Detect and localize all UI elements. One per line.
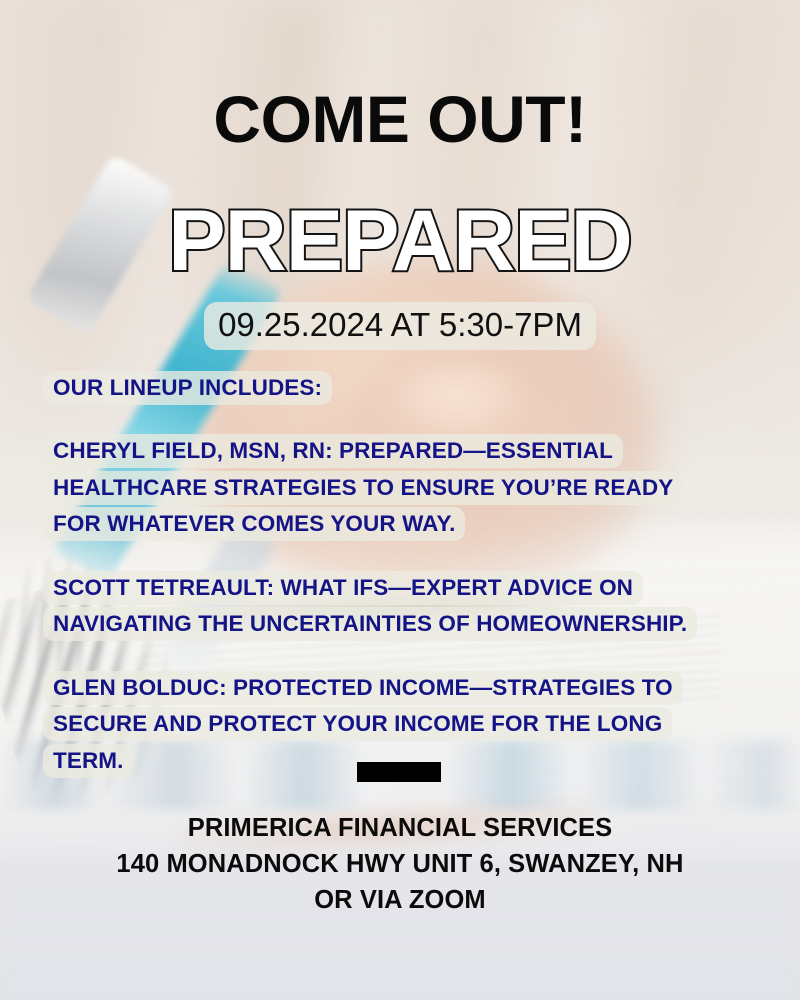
lineup-intro-paragraph: OUR LINEUP INCLUDES:	[43, 370, 743, 406]
date-time-row: 09.25.2024 AT 5:30-7PM	[0, 302, 800, 350]
flyer-content: COME OUT! PREPARED 09.25.2024 AT 5:30-7P…	[0, 0, 800, 1000]
lineup-intro-line: OUR LINEUP INCLUDES:	[43, 370, 743, 406]
speaker-line-text: SCOTT TETREAULT: WHAT IFS—EXPERT ADVICE …	[43, 571, 643, 605]
footer-block: PRIMERICA FINANCIAL SERVICES 140 MONADNO…	[0, 810, 800, 919]
footer-alternative: OR VIA ZOOM	[0, 882, 800, 918]
speaker-scott-tetreault: SCOTT TETREAULT: WHAT IFS—EXPERT ADVICE …	[43, 570, 743, 643]
speaker-line: CHERYL FIELD, MSN, RN: PREPARED—ESSENTIA…	[43, 433, 743, 469]
speaker-line-text: HEALTHCARE STRATEGIES TO ENSURE YOU’RE R…	[43, 471, 683, 505]
speaker-line-text: SECURE AND PROTECT YOUR INCOME FOR THE L…	[43, 707, 672, 741]
speaker-line-text: TERM.	[43, 744, 134, 778]
speaker-line: SECURE AND PROTECT YOUR INCOME FOR THE L…	[43, 706, 743, 742]
footer-organization: PRIMERICA FINANCIAL SERVICES	[0, 810, 800, 846]
event-date-time: 09.25.2024 AT 5:30-7PM	[204, 302, 596, 350]
event-flyer: COME OUT! PREPARED 09.25.2024 AT 5:30-7P…	[0, 0, 800, 1000]
speaker-line-text: CHERYL FIELD, MSN, RN: PREPARED—ESSENTIA…	[43, 434, 623, 468]
lineup-section: OUR LINEUP INCLUDES: CHERYL FIELD, MSN, …	[43, 370, 743, 779]
speaker-line: NAVIGATING THE UNCERTAINTIES OF HOMEOWNE…	[43, 606, 743, 642]
speaker-cheryl-field: CHERYL FIELD, MSN, RN: PREPARED—ESSENTIA…	[43, 433, 743, 542]
flyer-headline: COME OUT!	[0, 86, 800, 152]
section-divider-bar	[357, 762, 441, 782]
flyer-subheadline: PREPARED	[0, 198, 800, 284]
speaker-line-text: FOR WHATEVER COMES YOUR WAY.	[43, 507, 465, 541]
speaker-line: FOR WHATEVER COMES YOUR WAY.	[43, 506, 743, 542]
footer-address: 140 MONADNOCK HWY UNIT 6, SWANZEY, NH	[0, 846, 800, 882]
speaker-line: SCOTT TETREAULT: WHAT IFS—EXPERT ADVICE …	[43, 570, 743, 606]
speaker-line: HEALTHCARE STRATEGIES TO ENSURE YOU’RE R…	[43, 470, 743, 506]
speaker-line: GLEN BOLDUC: PROTECTED INCOME—STRATEGIES…	[43, 670, 743, 706]
speaker-line-text: GLEN BOLDUC: PROTECTED INCOME—STRATEGIES…	[43, 671, 683, 705]
lineup-intro-text: OUR LINEUP INCLUDES:	[43, 371, 332, 405]
speaker-line-text: NAVIGATING THE UNCERTAINTIES OF HOMEOWNE…	[43, 607, 697, 641]
